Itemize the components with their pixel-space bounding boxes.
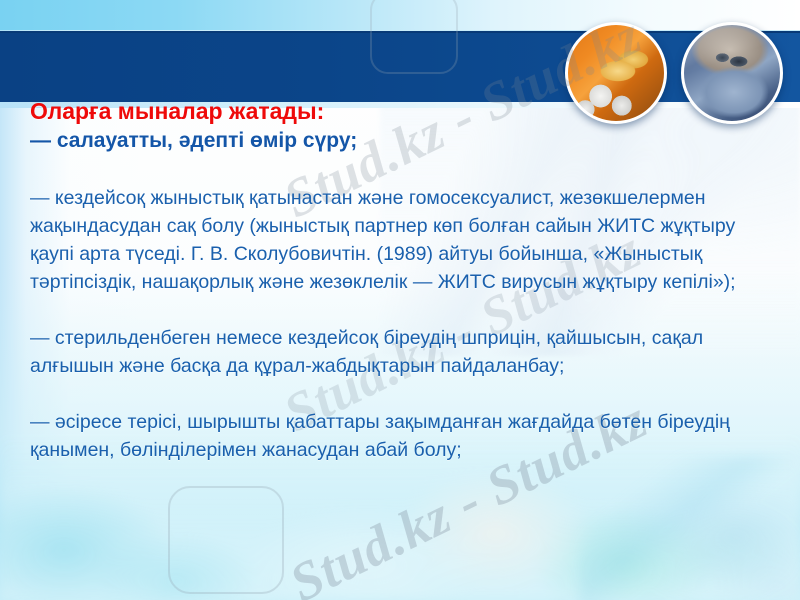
- bullet-paragraph-1: — кездейсоқ жыныстық қатынастан және гом…: [30, 184, 775, 296]
- spacer: [30, 296, 775, 324]
- background-vial-image: [580, 456, 800, 600]
- slide-title: Оларға мыналар жатады:: [30, 98, 775, 124]
- spacer: [30, 380, 775, 408]
- spacer: [30, 154, 775, 184]
- header-navy-band: [0, 31, 800, 102]
- slide-subtitle: — салауатты, әдепті өмір сүру;: [30, 128, 775, 154]
- presentation-slide: Stud.kz - Stud.kz Stud.kz - Stud.kz Stud…: [0, 0, 800, 600]
- bullet-paragraph-2: — стерильденбеген немесе кездейсоқ біреу…: [30, 324, 775, 380]
- header-navy-top-line: [0, 31, 800, 33]
- header-light-band: [0, 0, 800, 30]
- slide-content: Оларға мыналар жатады: — салауатты, әдеп…: [30, 98, 775, 464]
- bullet-paragraph-3: — әсіресе терісі, шырышты қабаттары зақы…: [30, 408, 775, 464]
